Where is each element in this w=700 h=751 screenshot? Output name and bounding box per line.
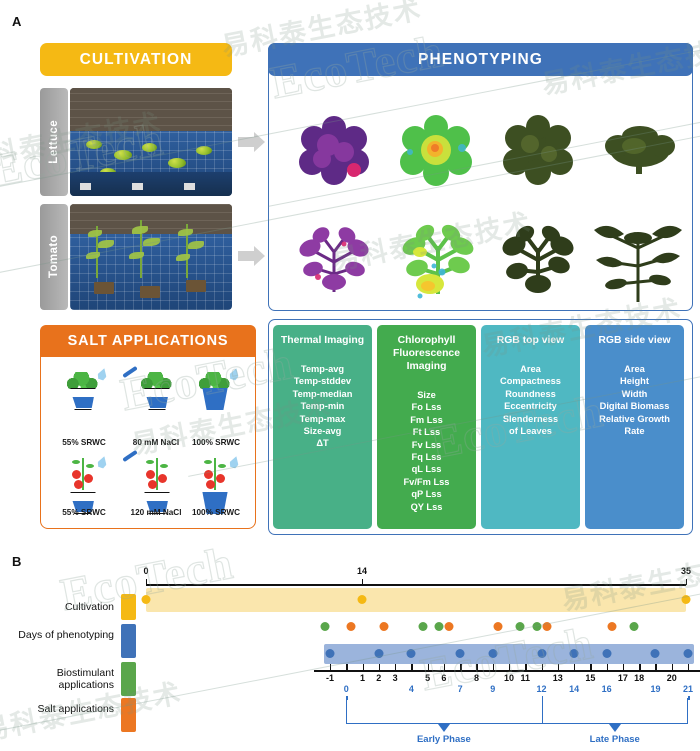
bottom-axis-label: 11	[521, 673, 531, 683]
salt-caption-lettuce-3: 100% SRWC	[180, 438, 252, 447]
trait-item: Width	[585, 388, 684, 400]
phase-label: Early Phase	[417, 734, 471, 745]
trait-item: Roundness	[481, 388, 580, 400]
bottom-axis-label: 2	[376, 673, 381, 683]
trait-item: Temp-avg	[273, 363, 372, 375]
cultivation-marker	[358, 595, 367, 604]
trait-item: Size-avg	[273, 425, 372, 437]
bottom-axis-tick	[655, 664, 656, 671]
bottom-axis-label: 1	[360, 673, 365, 683]
trait-item: Area	[585, 363, 684, 375]
thumbnail-tomato-chlorophyll	[390, 222, 482, 302]
cultivation-band	[146, 588, 686, 612]
species-label-tomato: Tomato	[48, 235, 60, 278]
phenotyping-marker	[537, 649, 546, 658]
top-axis-label: 0	[143, 566, 148, 576]
modality-box-thermal: Thermal Imaging Temp-avgTemp-stddevTemp-…	[273, 325, 372, 529]
thumbnail-lettuce-rgb-top	[492, 112, 584, 190]
bottom-axis-tick	[623, 664, 624, 671]
bottom-axis-label: 3	[393, 673, 398, 683]
thumbnail-tomato-thermal	[288, 222, 380, 302]
thumbnail-tomato-rgb-top	[492, 222, 584, 302]
bottom-axis-tick	[395, 664, 396, 671]
phenotyping-marker	[602, 649, 611, 658]
salt-caption-tomato-1: 55% SRWC	[48, 508, 120, 517]
salt-marker	[379, 622, 388, 631]
bottom-axis-label-phenotyping: 12	[537, 684, 547, 694]
trait-item: Ft Lss	[377, 426, 476, 438]
trait-item: Compactness	[481, 375, 580, 387]
phenotyping-header: PHENOTYPING	[268, 43, 693, 76]
bottom-axis-tick	[379, 664, 380, 671]
bottom-axis-tick	[639, 664, 640, 671]
trait-item: Height	[585, 375, 684, 387]
bottom-axis-tick	[330, 664, 331, 671]
bottom-axis-label: 18	[634, 673, 644, 683]
bottom-axis-label-phenotyping: 7	[458, 684, 463, 694]
bottom-axis-label-phenotyping: 16	[602, 684, 612, 694]
modality-title-chlorophyll: Chlorophyll Fluorescence Imaging	[377, 334, 476, 373]
top-axis-label: 14	[357, 566, 367, 576]
bottom-axis-label: 20	[667, 673, 677, 683]
trait-item: Slenderness	[481, 413, 580, 425]
salt-caption-lettuce-1: 55% SRWC	[48, 438, 120, 447]
arrow-tomato-to-phenotyping	[238, 246, 266, 266]
phase-connector	[542, 696, 544, 700]
phenotyping-marker	[488, 649, 497, 658]
species-tab-lettuce: Lettuce	[40, 88, 68, 196]
phase-arrow	[609, 724, 621, 732]
bottom-axis-label-phenotyping: 19	[650, 684, 660, 694]
trait-item: ΔT	[273, 437, 372, 449]
trait-item: Fv/Fm Lss	[377, 476, 476, 488]
bottom-axis-tick	[688, 664, 689, 671]
bottom-axis-tick	[476, 664, 477, 671]
bottom-axis-tick	[607, 664, 608, 671]
salt-marker	[444, 622, 453, 631]
bottom-axis-label: 6	[441, 673, 446, 683]
bottom-axis-label-phenotyping: 14	[569, 684, 579, 694]
biostimulant-marker	[630, 622, 639, 631]
arrow-lettuce-to-phenotyping	[238, 132, 266, 152]
modality-traits-chlorophyll: SizeFo LssFm LssFt LssFv LssFq LssqL Lss…	[377, 389, 476, 513]
bottom-axis-tick	[493, 664, 494, 671]
modality-title-rgb-side: RGB side view	[585, 334, 684, 347]
biostimulant-marker	[321, 622, 330, 631]
trait-item: Fm Lss	[377, 414, 476, 426]
bottom-axis-tick	[363, 664, 364, 671]
biostimulant-marker	[418, 622, 427, 631]
bottom-axis-tick	[444, 664, 445, 671]
modality-box-rgb-side: RGB side view AreaHeightWidthDigital Bio…	[585, 325, 684, 529]
trait-item: Fq Lss	[377, 451, 476, 463]
bottom-axis-tick	[590, 664, 591, 671]
phenotyping-marker	[651, 649, 660, 658]
panel-a: A CULTIVATION PHENOTYPING Lettuce Tomato	[0, 0, 700, 548]
phase-divider	[542, 698, 544, 724]
trait-item: Relative Growth	[585, 413, 684, 425]
modality-title-rgb-top: RGB top view	[481, 334, 580, 347]
panel-b-letter: B	[12, 554, 21, 569]
trait-item: Temp-min	[273, 400, 372, 412]
cultivation-header: CULTIVATION	[40, 43, 232, 76]
salt-marker	[607, 622, 616, 631]
trait-item: Temp-max	[273, 413, 372, 425]
trait-item: qL Lss	[377, 463, 476, 475]
bottom-axis-tick	[460, 664, 461, 671]
bottom-axis-tick	[672, 664, 673, 671]
modality-traits-thermal: Temp-avgTemp-stddevTemp-medianTemp-minTe…	[273, 363, 372, 450]
modality-title-thermal: Thermal Imaging	[273, 334, 372, 347]
thumbnail-lettuce-thermal	[288, 112, 380, 190]
thumbnail-lettuce-chlorophyll	[390, 112, 482, 190]
top-axis-line	[146, 584, 686, 586]
bottom-axis-tick	[558, 664, 559, 671]
trait-item: Digital Biomass	[585, 400, 684, 412]
bottom-axis-label-phenotyping: 9	[490, 684, 495, 694]
panel-a-letter: A	[12, 14, 21, 29]
trait-item: qP Lss	[377, 488, 476, 500]
bottom-axis-label: -1	[326, 673, 334, 683]
salt-marker	[542, 622, 551, 631]
thumbnail-tomato-rgb-side	[588, 214, 688, 306]
bottom-axis-tick	[428, 664, 429, 671]
bottom-axis-label: 15	[585, 673, 595, 683]
salt-applications-header: SALT APPLICATIONS	[40, 325, 256, 357]
bottom-axis-line	[314, 670, 700, 672]
trait-item: Fv Lss	[377, 439, 476, 451]
modality-traits-rgb-top: AreaCompactnessRoundnessEccentricitySlen…	[481, 363, 580, 437]
modality-traits-rgb-side: AreaHeightWidthDigital BiomassRelative G…	[585, 363, 684, 437]
phenotyping-marker	[374, 649, 383, 658]
phase-connector	[346, 696, 348, 700]
bottom-axis-tick	[411, 664, 412, 671]
salt-marker	[493, 622, 502, 631]
bottom-axis-label-phenotyping: 4	[409, 684, 414, 694]
thumbnail-lettuce-rgb-side	[594, 116, 686, 190]
phenotyping-marker	[456, 649, 465, 658]
timeline-chart: 01435-1123568101113151718200479121416192…	[0, 548, 700, 751]
cultivation-marker	[682, 595, 691, 604]
top-axis-tick	[362, 579, 363, 585]
biostimulant-marker	[532, 622, 541, 631]
top-axis-tick	[686, 579, 687, 585]
phase-label: Late Phase	[590, 734, 640, 745]
salt-caption-tomato-3: 100% SRWC	[180, 508, 252, 517]
bottom-axis-label: 13	[553, 673, 563, 683]
species-label-lettuce: Lettuce	[48, 120, 60, 164]
bottom-axis-label: 10	[504, 673, 514, 683]
panel-b: B CultivationDays of phenotypingBiostimu…	[0, 548, 700, 751]
species-tab-tomato: Tomato	[40, 204, 68, 310]
trait-item: Eccentricity	[481, 400, 580, 412]
trait-item: of Leaves	[481, 425, 580, 437]
trait-item: Rate	[585, 425, 684, 437]
phenotyping-marker	[407, 649, 416, 658]
bottom-axis-tick	[542, 664, 543, 671]
bottom-axis-tick	[574, 664, 575, 671]
trait-item: Area	[481, 363, 580, 375]
bottom-axis-tick	[509, 664, 510, 671]
trait-item: Size	[377, 389, 476, 401]
bottom-axis-label-phenotyping: 21	[683, 684, 693, 694]
phase-connector	[688, 696, 690, 700]
biostimulant-marker	[516, 622, 525, 631]
salt-marker	[347, 622, 356, 631]
trait-item: Temp-median	[273, 388, 372, 400]
phenotyping-marker	[684, 649, 693, 658]
phase-arrow	[438, 724, 450, 732]
top-axis-label: 35	[681, 566, 691, 576]
bottom-axis-label: 8	[474, 673, 479, 683]
bottom-axis-tick	[525, 664, 526, 671]
bottom-axis-tick	[346, 664, 347, 671]
bottom-axis-label-phenotyping: 0	[344, 684, 349, 694]
trait-item: Fo Lss	[377, 401, 476, 413]
top-axis-tick	[146, 579, 147, 585]
bottom-axis-label: 5	[425, 673, 430, 683]
photo-lettuce-cultivation	[70, 88, 232, 196]
modality-box-chlorophyll: Chlorophyll Fluorescence Imaging SizeFo …	[377, 325, 476, 529]
trait-item: QY Lss	[377, 501, 476, 513]
modality-box-rgb-top: RGB top view AreaCompactnessRoundnessEcc…	[481, 325, 580, 529]
bottom-axis-label: 17	[618, 673, 628, 683]
phase-bracket	[346, 698, 688, 724]
phenotyping-marker	[570, 649, 579, 658]
biostimulant-marker	[434, 622, 443, 631]
cultivation-marker	[142, 595, 151, 604]
phenotyping-marker	[326, 649, 335, 658]
photo-tomato-cultivation	[70, 204, 232, 310]
trait-item: Temp-stddev	[273, 375, 372, 387]
